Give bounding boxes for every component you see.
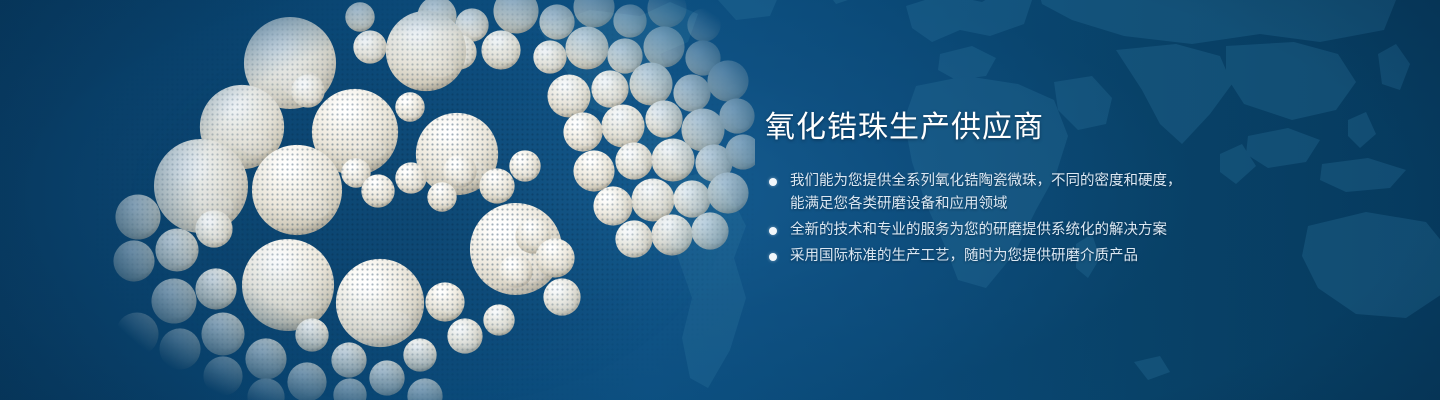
feature-list: 我们能为您提供全系列氧化锆陶瓷微珠，不同的密度和硬度， 能满足您各类研磨设备和应… xyxy=(765,170,1385,268)
bullet-dot-icon xyxy=(769,227,777,235)
list-item-line: 能满足您各类研磨设备和应用领域 xyxy=(790,193,1385,216)
list-item: 采用国际标准的生产工艺，随时为您提供研磨介质产品 xyxy=(765,245,1385,268)
list-item: 我们能为您提供全系列氧化锆陶瓷微珠，不同的密度和硬度， 能满足您各类研磨设备和应… xyxy=(765,170,1385,216)
list-item: 全新的技术和专业的服务为您的研磨提供系统化的解决方案 xyxy=(765,219,1385,242)
bullet-dot-icon xyxy=(769,178,777,186)
bullet-dot-icon xyxy=(769,253,777,261)
page-title: 氧化锆珠生产供应商 xyxy=(765,108,1385,148)
list-item-line: 我们能为您提供全系列氧化锆陶瓷微珠，不同的密度和硬度， xyxy=(790,170,1385,193)
hero-banner: 氧化锆珠生产供应商 我们能为您提供全系列氧化锆陶瓷微珠，不同的密度和硬度， 能满… xyxy=(0,0,1440,400)
banner-copy: 氧化锆珠生产供应商 我们能为您提供全系列氧化锆陶瓷微珠，不同的密度和硬度， 能满… xyxy=(765,108,1385,271)
list-item-line: 采用国际标准的生产工艺，随时为您提供研磨介质产品 xyxy=(790,245,1385,268)
list-item-line: 全新的技术和专业的服务为您的研磨提供系统化的解决方案 xyxy=(790,219,1385,242)
